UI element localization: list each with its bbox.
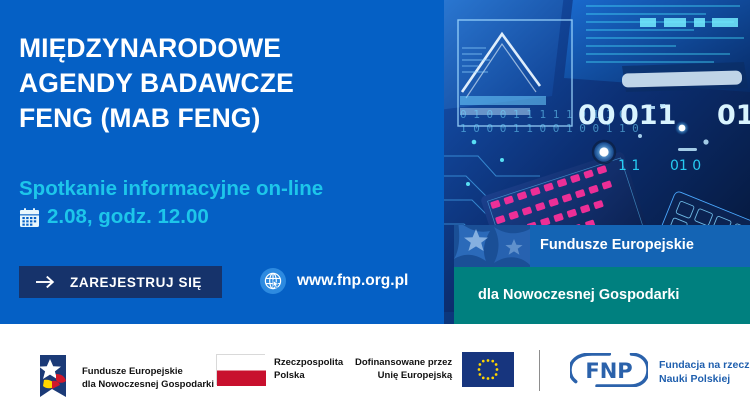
headline-line-2: AGENDY BADAWCZE bbox=[19, 66, 439, 101]
footer-logo-european-union: Dofinansowane przez Unię Europejską bbox=[355, 352, 514, 387]
footer-logo-fnp: FNP Fundacja na rzecz Nauki Polskiej bbox=[570, 353, 749, 392]
footer-rp-label-line-2: Polska bbox=[274, 370, 343, 383]
svg-text:1 1: 1 1 bbox=[618, 158, 640, 174]
footer-logo-bar: Fundusze Europejskie dla Nowoczesnej Gos… bbox=[0, 324, 750, 418]
fe-lockup-top-label: Fundusze Europejskie bbox=[540, 237, 694, 253]
footer-fnp-label-line-1: Fundacja na rzecz bbox=[659, 359, 749, 373]
fe-lockup-top-band: Fundusze Europejskie bbox=[454, 225, 750, 267]
poland-flag-icon bbox=[216, 354, 265, 385]
register-button[interactable]: ZAREJESTRUJ SIĘ bbox=[19, 266, 222, 298]
svg-text:010: 010 bbox=[717, 100, 750, 131]
svg-text:00: 00 bbox=[578, 100, 616, 131]
fe-program-lockup: Fundusze Europejskie dla Nowoczesnej Gos… bbox=[454, 225, 750, 324]
website-link[interactable]: www.fnp.org.pl bbox=[260, 268, 408, 294]
footer-eu-label-line-2: Unię Europejską bbox=[355, 370, 452, 383]
footer-divider bbox=[539, 350, 540, 391]
headline-line-3: FENG (MAB FENG) bbox=[19, 101, 439, 136]
footer-eu-label: Dofinansowane przez Unię Europejską bbox=[355, 357, 452, 382]
hero-text-column: MIĘDZYNARODOWE AGENDY BADAWCZE FENG (MAB… bbox=[19, 0, 439, 324]
footer-fe-label-line-2: dla Nowoczesnej Gospodarki bbox=[82, 379, 214, 392]
fnp-mark-text: FNP bbox=[585, 359, 632, 383]
footer-fnp-label-line-2: Nauki Polskiej bbox=[659, 373, 749, 387]
register-button-label: ZAREJESTRUJ SIĘ bbox=[70, 275, 202, 290]
page-title: MIĘDZYNARODOWE AGENDY BADAWCZE FENG (MAB… bbox=[19, 31, 439, 136]
subtitle: Spotkanie informacyjne on-line bbox=[19, 176, 323, 202]
footer-logo-rzeczpospolita-polska: Rzeczpospolita Polska bbox=[216, 354, 343, 385]
headline-line-1: MIĘDZYNARODOWE bbox=[19, 31, 439, 66]
fe-flag-stars-icon bbox=[32, 351, 72, 406]
svg-text:011: 011 bbox=[620, 100, 676, 131]
event-date-text: 2.08, godz. 12.00 bbox=[47, 206, 209, 228]
svg-text:01 0: 01 0 bbox=[670, 158, 701, 174]
fe-lockup-bottom-label: dla Nowoczesnej Gospodarki bbox=[478, 287, 679, 303]
event-promo-banner: MIĘDZYNARODOWE AGENDY BADAWCZE FENG (MAB… bbox=[0, 0, 750, 418]
fnp-logo-icon: FNP bbox=[570, 353, 648, 392]
globe-cursor-icon bbox=[260, 268, 286, 294]
footer-logo-fundusze-europejskie: Fundusze Europejskie dla Nowoczesnej Gos… bbox=[32, 351, 214, 406]
footer-rp-label-line-1: Rzeczpospolita bbox=[274, 357, 343, 370]
fe-stars-icon bbox=[454, 225, 530, 267]
arrow-right-icon bbox=[36, 275, 56, 289]
eu-flag-icon bbox=[462, 352, 514, 387]
footer-fe-label-line-1: Fundusze Europejskie bbox=[82, 366, 214, 379]
event-date-row: 2.08, godz. 12.00 bbox=[19, 206, 209, 228]
footer-rp-label: Rzeczpospolita Polska bbox=[274, 357, 343, 382]
footer-eu-label-line-1: Dofinansowane przez bbox=[355, 357, 452, 370]
website-url-label: www.fnp.org.pl bbox=[297, 272, 408, 290]
calendar-icon bbox=[19, 207, 40, 228]
footer-fe-label: Fundusze Europejskie dla Nowoczesnej Gos… bbox=[82, 366, 214, 391]
footer-fnp-label: Fundacja na rzecz Nauki Polskiej bbox=[659, 359, 749, 386]
